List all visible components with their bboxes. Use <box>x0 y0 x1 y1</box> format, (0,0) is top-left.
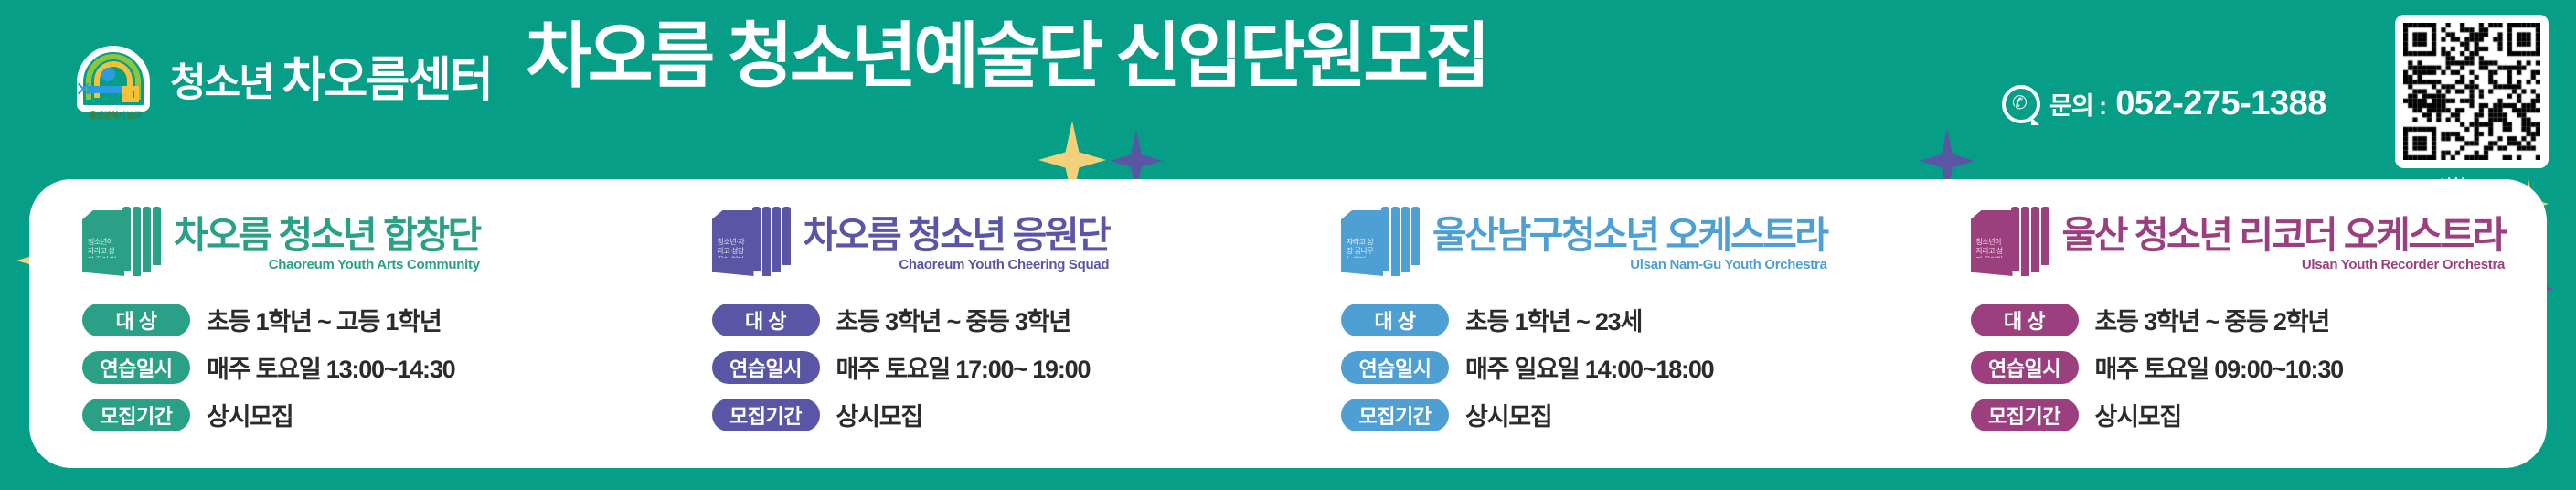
contact-label: 문의 : <box>2049 86 2106 122</box>
program-title-en: Chaoreum Youth Cheering Squad <box>804 257 1110 272</box>
programs-panel: 청소년이 자라고 성장 꿈이 있다차오름 청소년 합창단Chaoreum You… <box>29 179 2547 468</box>
open-book-icon: 자라고 성장 꿈나무 놀이터 <box>1341 207 1420 280</box>
banner-header: ✕ 울산광역시 남구 청소년 차오름센터 차오름 청소년예술단 신입단원모집 ✆… <box>0 0 2576 179</box>
program-card: 청소년·자라고 성장 꿈이 있다 놀이터차오름 청소년 응원단Chaoreum … <box>659 179 1289 468</box>
promo-banner: ✕ 울산광역시 남구 청소년 차오름센터 차오름 청소년예술단 신입단원모집 ✆… <box>0 0 2576 490</box>
program-card-header: 청소년이 자라고 성장 꿈이있는 놀이터울산 청소년 리코더 오케스트라Ulsa… <box>1971 201 2539 285</box>
detail-value: 상시모집 <box>2095 397 2182 432</box>
book-scribble-text: 자라고 성장 꿈나무 놀이터 <box>1347 238 1379 258</box>
program-detail-rows: 대 상초등 1학년 ~ 고등 1학년연습일시매주 토요일 13:00~14:30… <box>82 302 650 432</box>
program-card: 자라고 성장 꿈나무 놀이터울산남구청소년 오케스트라Ulsan Nam-Gu … <box>1288 179 1918 468</box>
program-detail-row: 모집기간상시모집 <box>1341 397 1909 432</box>
program-title-en: Chaoreum Youth Arts Community <box>174 257 480 272</box>
program-card-header: 자라고 성장 꿈나무 놀이터울산남구청소년 오케스트라Ulsan Nam-Gu … <box>1341 201 1909 285</box>
detail-value: 매주 일요일 14:00~18:00 <box>1465 349 1713 385</box>
program-detail-row: 연습일시매주 일요일 14:00~18:00 <box>1341 349 1909 385</box>
program-card-header: 청소년·자라고 성장 꿈이 있다 놀이터차오름 청소년 응원단Chaoreum … <box>712 201 1280 285</box>
program-title-stack: 울산 청소년 리코더 오케스트라Ulsan Youth Recorder Orc… <box>2062 215 2506 272</box>
qr-block[interactable]: 신청QR ▲ <box>2395 15 2549 196</box>
program-card-header: 청소년이 자라고 성장 꿈이 있다차오름 청소년 합창단Chaoreum You… <box>82 201 650 285</box>
contact-info: ✆ 문의 : 052-275-1388 <box>2002 84 2326 123</box>
detail-value: 매주 토요일 17:00~ 19:00 <box>836 349 1091 385</box>
program-detail-row: 모집기간상시모집 <box>82 397 650 432</box>
program-card: 청소년이 자라고 성장 꿈이있는 놀이터울산 청소년 리코더 오케스트라Ulsa… <box>1918 179 2548 468</box>
program-card: 청소년이 자라고 성장 꿈이 있다차오름 청소년 합창단Chaoreum You… <box>29 179 659 468</box>
phone-bubble-icon: ✆ <box>2002 85 2040 123</box>
program-title-stack: 울산남구청소년 오케스트라Ulsan Nam-Gu Youth Orchestr… <box>1432 215 1827 272</box>
program-detail-row: 모집기간상시모집 <box>712 397 1280 432</box>
qr-code-icon[interactable] <box>2403 23 2540 160</box>
program-title-ko: 울산 청소년 리코더 오케스트라 <box>2062 215 2506 255</box>
program-detail-rows: 대 상초등 1학년 ~ 23세연습일시매주 일요일 14:00~18:00모집기… <box>1341 302 1909 432</box>
wordmark-big: 차오름센터 <box>282 54 492 107</box>
program-title-ko: 차오름 청소년 응원단 <box>804 215 1110 255</box>
open-book-icon: 청소년이 자라고 성장 꿈이있는 놀이터 <box>1971 207 2049 280</box>
detail-label-pill: 모집기간 <box>712 399 820 431</box>
detail-label-pill: 모집기간 <box>1971 399 2079 431</box>
book-scribble-text: 청소년이 자라고 성장 꿈이있는 놀이터 <box>1976 238 2009 258</box>
detail-label-pill: 모집기간 <box>82 399 190 431</box>
detail-value: 초등 1학년 ~ 고등 1학년 <box>207 302 442 337</box>
open-book-icon: 청소년·자라고 성장 꿈이 있다 놀이터 <box>712 207 791 280</box>
detail-label-pill: 모집기간 <box>1341 399 1449 431</box>
detail-value: 상시모집 <box>207 397 293 432</box>
program-title-stack: 차오름 청소년 합창단Chaoreum Youth Arts Community <box>174 215 480 272</box>
detail-value: 매주 토요일 09:00~10:30 <box>2095 349 2343 385</box>
book-scribble-text: 청소년이 자라고 성장 꿈이 있다 <box>88 238 121 258</box>
detail-value: 초등 1학년 ~ 23세 <box>1465 302 1642 337</box>
detail-value: 초등 3학년 ~ 중등 3학년 <box>836 302 1071 337</box>
program-card-list: 청소년이 자라고 성장 꿈이 있다차오름 청소년 합창단Chaoreum You… <box>29 179 2547 468</box>
detail-label-pill: 연습일시 <box>1971 351 2079 384</box>
program-detail-row: 연습일시매주 토요일 13:00~14:30 <box>82 349 650 385</box>
detail-label-pill: 연습일시 <box>1341 351 1449 384</box>
detail-label-pill: 대 상 <box>1971 304 2079 336</box>
open-book-icon: 청소년이 자라고 성장 꿈이 있다 <box>82 207 161 280</box>
wordmark-small: 청소년 <box>170 61 273 105</box>
page-title: 차오름 청소년예술단 신입단원모집 <box>526 16 1487 95</box>
emblem-subtext: 울산광역시 남구 <box>79 109 152 121</box>
program-title-en: Ulsan Nam-Gu Youth Orchestra <box>1432 257 1827 272</box>
detail-label-pill: 연습일시 <box>82 351 190 384</box>
program-detail-row: 연습일시매주 토요일 17:00~ 19:00 <box>712 349 1280 385</box>
namgu-emblem-icon: ✕ 울산광역시 남구 <box>71 38 155 122</box>
contact-phone-number: 052-275-1388 <box>2115 84 2326 123</box>
book-scribble-text: 청소년·자라고 성장 꿈이 있다 놀이터 <box>718 238 750 258</box>
program-detail-row: 대 상초등 3학년 ~ 중등 3학년 <box>712 302 1280 337</box>
detail-label-pill: 대 상 <box>712 304 820 336</box>
program-detail-row: 대 상초등 3학년 ~ 중등 2학년 <box>1971 302 2539 337</box>
program-detail-row: 모집기간상시모집 <box>1971 397 2539 432</box>
detail-label-pill: 연습일시 <box>712 351 820 384</box>
detail-value: 상시모집 <box>1465 397 1552 432</box>
program-title-ko: 울산남구청소년 오케스트라 <box>1432 215 1827 255</box>
detail-value: 매주 토요일 13:00~14:30 <box>207 349 454 385</box>
program-detail-rows: 대 상초등 3학년 ~ 중등 2학년연습일시매주 토요일 09:00~10:30… <box>1971 302 2539 432</box>
program-title-en: Ulsan Youth Recorder Orchestra <box>2062 257 2506 272</box>
detail-value: 초등 3학년 ~ 중등 2학년 <box>2095 302 2330 337</box>
center-wordmark: 청소년 차오름센터 <box>170 57 492 104</box>
detail-label-pill: 대 상 <box>82 304 190 336</box>
program-title-stack: 차오름 청소년 응원단Chaoreum Youth Cheering Squad <box>804 215 1110 272</box>
center-brand-lockup: ✕ 울산광역시 남구 청소년 차오름센터 <box>71 38 492 122</box>
program-title-ko: 차오름 청소년 합창단 <box>174 215 480 255</box>
detail-label-pill: 대 상 <box>1341 304 1449 336</box>
program-detail-row: 대 상초등 1학년 ~ 23세 <box>1341 302 1909 337</box>
program-detail-row: 대 상초등 1학년 ~ 고등 1학년 <box>82 302 650 337</box>
qr-card[interactable] <box>2395 15 2549 168</box>
program-detail-row: 연습일시매주 토요일 09:00~10:30 <box>1971 349 2539 385</box>
program-detail-rows: 대 상초등 3학년 ~ 중등 3학년연습일시매주 토요일 17:00~ 19:0… <box>712 302 1280 432</box>
detail-value: 상시모집 <box>836 397 923 432</box>
